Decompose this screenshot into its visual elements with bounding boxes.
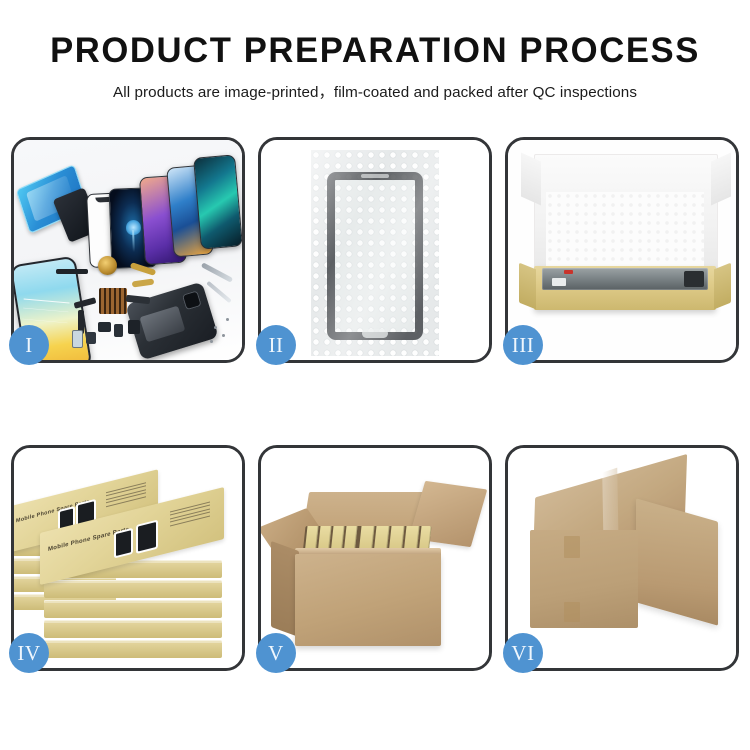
- red-marker: [564, 270, 573, 274]
- small-part-icon-2: [114, 324, 123, 337]
- scene-inner-box: [508, 140, 736, 360]
- step-card-2: II: [258, 137, 492, 363]
- box-phone-image-2: [138, 522, 156, 551]
- header: PRODUCT PREPARATION PROCESS All products…: [0, 0, 750, 102]
- screw-icon-3: [210, 340, 213, 343]
- small-part-icon-4: [86, 332, 96, 344]
- camera-module-icon: [182, 290, 202, 310]
- step-frame-5: [258, 445, 492, 671]
- screen-crack-icon: [24, 299, 70, 304]
- step-card-3: III: [505, 137, 739, 363]
- carton-tab-icon-2: [564, 602, 580, 622]
- carton-right-face: [636, 498, 718, 626]
- carton-front-face: [530, 530, 638, 628]
- scene-box-stack: Mobile Phone Spare Parts: [14, 448, 242, 668]
- step-frame-4: Mobile Phone Spare Parts: [11, 445, 245, 671]
- carton-front-face: [295, 554, 441, 646]
- scene-carton-filling: [261, 448, 489, 668]
- carton-tab-icon-1: [564, 536, 580, 558]
- stack-layer: [44, 640, 222, 658]
- step-badge-1: I: [9, 325, 49, 365]
- box-left-flap: [519, 263, 536, 310]
- step-badge-2: II: [256, 325, 296, 365]
- vibrator-motor-icon: [98, 256, 117, 275]
- box-phone-image-1: [116, 530, 131, 556]
- step-badge-6: VI: [503, 633, 543, 673]
- scene-sealed-carton: [508, 448, 736, 668]
- speaker-part-icon: [56, 269, 88, 274]
- box-spec-lines: [170, 502, 210, 529]
- stack-layer: [44, 620, 222, 638]
- product-preparation-infographic: PRODUCT PREPARATION PROCESS All products…: [0, 0, 750, 750]
- stack-layer: [44, 600, 222, 618]
- step-frame-1: [11, 137, 245, 363]
- step-badge-3: III: [503, 325, 543, 365]
- kraft-box-tray-icon: [534, 266, 716, 310]
- screw-icon-2: [222, 334, 225, 337]
- step-card-1: I: [11, 137, 245, 363]
- teal-gradient-phone-icon: [193, 154, 242, 249]
- small-part-icon-1: [98, 322, 111, 332]
- scene-components-overview: [14, 140, 242, 360]
- box-right-flap: [714, 263, 731, 310]
- step-badge-5: V: [256, 633, 296, 673]
- stack-layer: [44, 580, 222, 598]
- step-card-4: Mobile Phone Spare Parts: [11, 445, 245, 671]
- foam-sheet-icon: [546, 192, 704, 270]
- scene-bubble-wrap: [261, 140, 489, 360]
- plastic-sheen: [311, 150, 439, 356]
- screw-icon-1: [214, 326, 217, 329]
- connector-grid-icon: [99, 288, 127, 314]
- steps-grid: I II: [11, 137, 739, 671]
- step-frame-3: [505, 137, 739, 363]
- box-spec-lines: [106, 482, 146, 509]
- step-card-5: V: [258, 445, 492, 671]
- small-part-icon-3: [128, 320, 140, 334]
- packed-screen-icon: [542, 268, 708, 290]
- step-badge-4: IV: [9, 633, 49, 673]
- screw-icon-4: [226, 318, 229, 321]
- step-frame-6: [505, 445, 739, 671]
- bubble-wrap-icon: [311, 150, 439, 356]
- step-card-6: VI: [505, 445, 739, 671]
- white-label-icon: [552, 278, 566, 286]
- step-frame-2: [258, 137, 492, 363]
- sim-tray-icon: [72, 330, 83, 348]
- battery-icon: [140, 306, 186, 343]
- page-subtitle: All products are image-printed，film-coat…: [0, 80, 750, 102]
- page-title: PRODUCT PREPARATION PROCESS: [4, 33, 747, 70]
